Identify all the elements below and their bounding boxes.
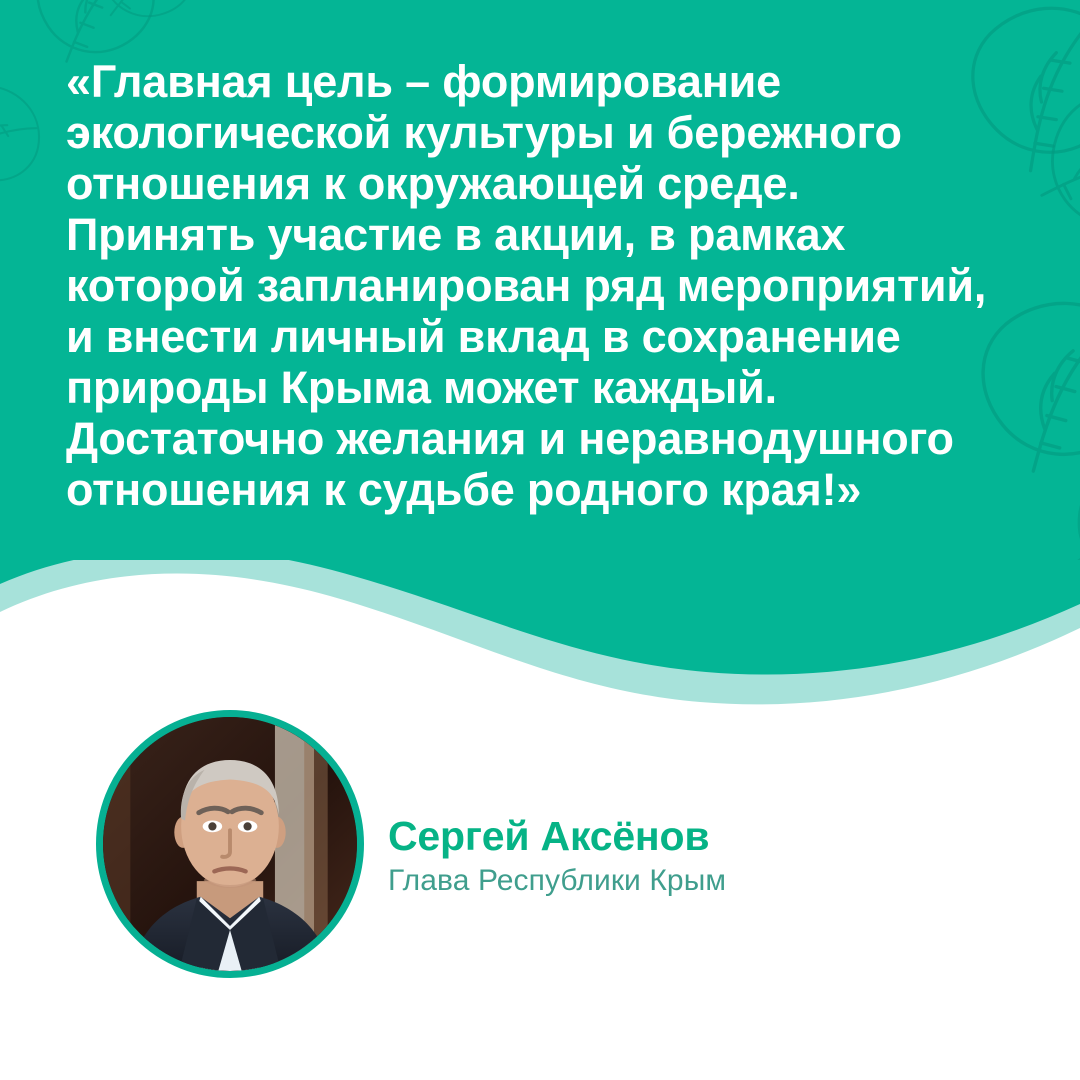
quote-line: Принять участие в акции, в рамках [66,209,1056,260]
quote-line: которой запланирован ряд мероприятий, [66,260,1056,311]
person-role: Глава Республики Крым [388,862,1028,900]
attribution-section: Сергей Аксёнов Глава Республики Крым [0,706,1080,1006]
quote-line: «Главная цель – формирование [66,56,1056,107]
leaf-icon [0,78,48,188]
quote-text: «Главная цель – формирование экологическ… [66,56,1056,515]
avatar [96,710,364,978]
quote-line: Достаточно желания и неравнодушного [66,413,1056,464]
quote-line: природы Крыма может каждый. [66,362,1056,413]
portrait-photo [103,717,357,971]
person-name: Сергей Аксёнов [388,812,1028,860]
quote-line: экологической культуры и бережного [66,107,1056,158]
quote-line: и внести личный вклад в сохранение [66,311,1056,362]
leaf-icon [96,0,199,22]
quote-line: отношения к судьбе родного края!» [66,464,1056,515]
person-info: Сергей Аксёнов Глава Республики Крым [388,812,1028,900]
quote-line: отношения к окружающей среде. [66,158,1056,209]
quote-card: «Главная цель – формирование экологическ… [0,0,1080,1080]
